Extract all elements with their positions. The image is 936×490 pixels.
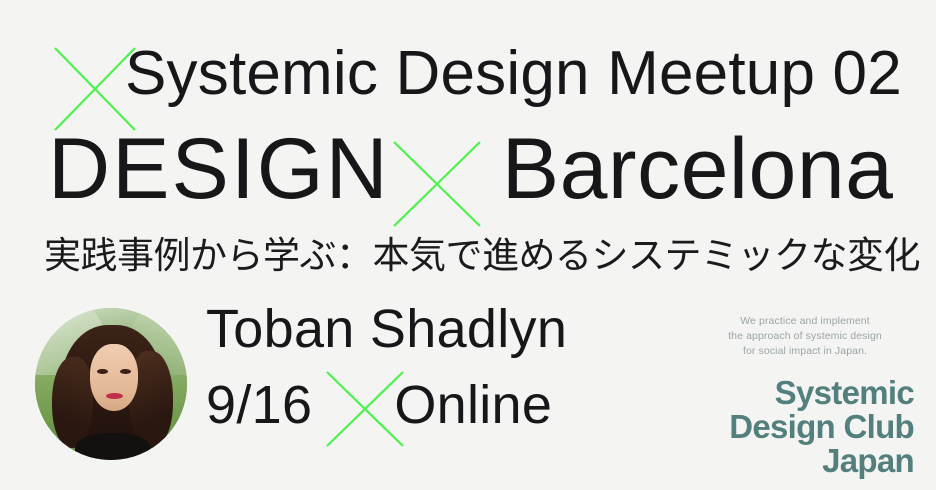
headline-line-1: Systemic Design Meetup 02 [125,43,902,105]
headline-city-word: Barcelona [502,121,894,217]
brand-logo-line-1: Systemic [696,376,914,410]
event-format: Online [394,375,552,435]
event-date: 9/16 [206,375,312,435]
subtitle-japanese: 実践事例から学ぶ：本気で進めるシステミックな変化 [44,234,920,278]
brand-logo: Systemic Design Club Japan [696,376,914,478]
avatar-face [90,344,139,411]
brand-logo-line-2: Design Club [696,410,914,444]
brand-tagline-line-2: the approach of systemic design [696,329,914,344]
avatar-hair-left-strand [52,357,93,448]
brand-tagline-line-3: for social impact in Japan. [696,344,914,359]
speaker-avatar [35,308,187,460]
event-banner: Systemic Design Meetup 02 DESIGNBarcelon… [0,0,936,490]
avatar-eye-right [120,369,131,374]
brand-tagline-line-1: We practice and implement [696,314,914,329]
avatar-shoulders [75,433,151,460]
brand-logo-line-3: Japan [696,444,914,478]
headline-design-word: DESIGN [48,121,390,217]
event-date-format: 9/16Online [206,378,552,432]
brand-tagline: We practice and implement the approach o… [696,314,914,360]
speaker-name: Toban Shadlyn [206,302,567,356]
brand-block: We practice and implement the approach o… [696,314,914,478]
avatar-eye-left [97,369,108,374]
headline-line-2: DESIGNBarcelona [48,126,894,212]
